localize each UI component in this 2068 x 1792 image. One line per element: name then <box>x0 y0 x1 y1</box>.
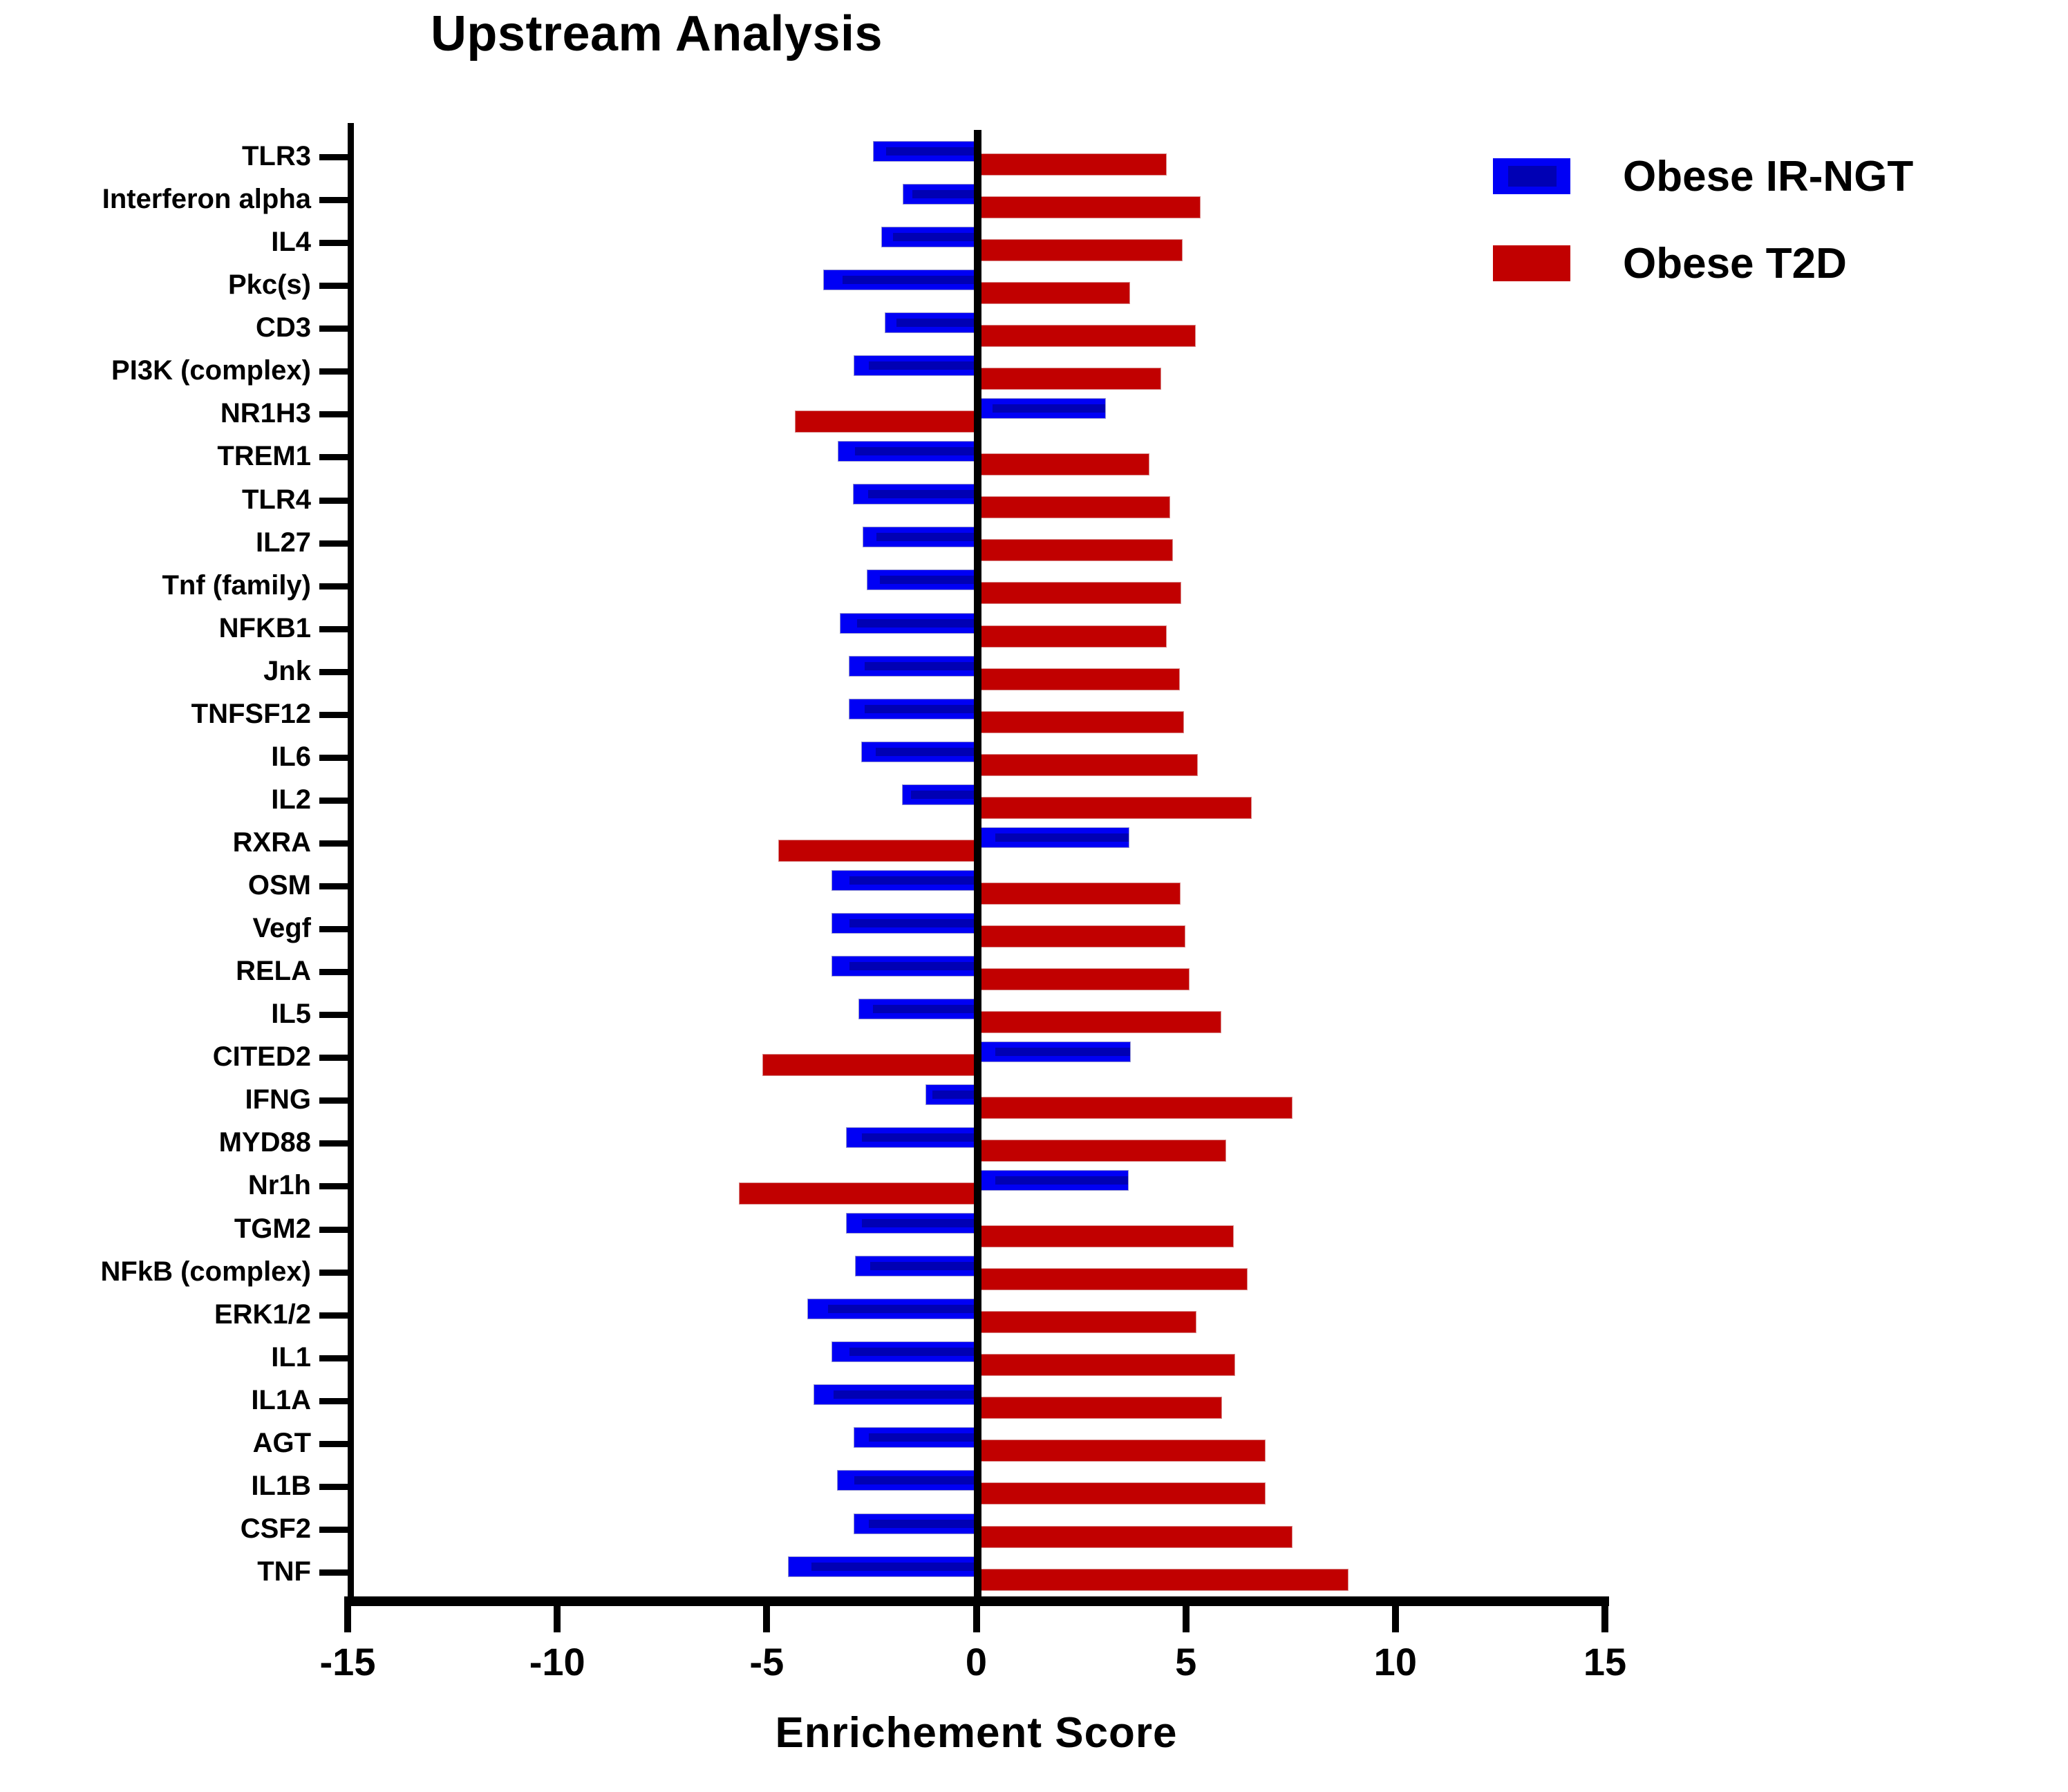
bar-obese-ir-ngt[interactable] <box>977 827 1129 848</box>
bar-obese-ir-ngt[interactable] <box>925 1084 976 1105</box>
x-axis-ticklabel: 5 <box>1117 1639 1255 1684</box>
bar-obese-ir-ngt[interactable] <box>837 1470 977 1491</box>
y-axis-spine <box>348 123 354 1602</box>
y-axis-label: TNFSF12 <box>0 700 311 728</box>
y-axis-tick <box>319 368 348 375</box>
y-axis-tick <box>319 326 348 332</box>
bar-obese-ir-ngt[interactable] <box>903 184 976 205</box>
y-axis-tick <box>319 1183 348 1189</box>
bar-obese-t2d[interactable] <box>977 539 1174 561</box>
bar-obese-ir-ngt[interactable] <box>807 1299 977 1319</box>
bar-obese-ir-ngt[interactable] <box>840 613 976 634</box>
bar-obese-t2d[interactable] <box>977 711 1184 733</box>
y-axis-tick <box>319 626 348 632</box>
bar-obese-t2d[interactable] <box>977 1397 1222 1419</box>
y-axis-tick <box>319 1441 348 1447</box>
bar-obese-ir-ngt[interactable] <box>858 999 977 1019</box>
y-axis-label: NFkB (complex) <box>0 1258 311 1285</box>
y-axis-label: NR1H3 <box>0 399 311 427</box>
y-axis-label: RELA <box>0 957 311 985</box>
y-axis-label: Vegf <box>0 914 311 942</box>
bar-obese-t2d[interactable] <box>977 153 1167 176</box>
y-axis-tick <box>319 1355 348 1361</box>
y-axis-label: Tnf (family) <box>0 572 311 599</box>
y-axis-tick <box>319 1055 348 1061</box>
y-axis-tick <box>319 283 348 289</box>
bar-obese-t2d[interactable] <box>795 411 977 433</box>
x-axis-tick <box>1392 1606 1399 1632</box>
y-axis-tick <box>319 669 348 675</box>
bar-obese-t2d[interactable] <box>762 1054 977 1076</box>
bar-obese-ir-ngt[interactable] <box>849 656 977 677</box>
y-axis-tick <box>319 1097 348 1104</box>
y-axis-tick <box>319 1140 348 1147</box>
x-axis-ticklabel: -10 <box>488 1639 626 1684</box>
bar-obese-t2d[interactable] <box>977 582 1181 604</box>
y-axis-label: NFKB1 <box>0 614 311 642</box>
y-axis-label: IL5 <box>0 1000 311 1028</box>
bar-obese-t2d[interactable] <box>977 883 1181 905</box>
bar-obese-ir-ngt[interactable] <box>977 1041 1131 1062</box>
y-axis-ticks <box>319 135 348 1594</box>
bar-obese-t2d[interactable] <box>977 1011 1221 1033</box>
y-axis-label: IL1A <box>0 1386 311 1414</box>
x-axis-tick <box>1183 1606 1190 1632</box>
y-axis-label: CD3 <box>0 314 311 341</box>
y-axis-tick <box>319 1527 348 1533</box>
bar-obese-ir-ngt[interactable] <box>855 1256 977 1276</box>
bar-obese-ir-ngt[interactable] <box>881 227 977 247</box>
bar-obese-ir-ngt[interactable] <box>838 441 976 462</box>
y-axis-tick <box>319 969 348 975</box>
bar-obese-t2d[interactable] <box>977 1440 1266 1462</box>
y-axis-label: IL6 <box>0 743 311 771</box>
y-axis-label: Interferon alpha <box>0 185 311 213</box>
bar-obese-ir-ngt[interactable] <box>831 870 976 891</box>
y-axis-tick <box>319 1270 348 1276</box>
bar-obese-ir-ngt[interactable] <box>846 1127 977 1148</box>
x-axis-ticklabels: -15-10-5051015 <box>0 1639 2068 1688</box>
bar-obese-ir-ngt[interactable] <box>854 1427 976 1448</box>
bar-obese-ir-ngt[interactable] <box>854 355 976 376</box>
bar-obese-ir-ngt[interactable] <box>814 1384 976 1405</box>
bar-obese-ir-ngt[interactable] <box>831 1341 976 1362</box>
bar-obese-t2d[interactable] <box>977 625 1167 648</box>
bar-obese-t2d[interactable] <box>977 239 1183 261</box>
bar-obese-t2d[interactable] <box>977 282 1131 304</box>
bar-obese-t2d[interactable] <box>977 196 1201 218</box>
y-axis-tick <box>319 197 348 203</box>
y-axis-label: IL1B <box>0 1472 311 1500</box>
y-axis-label: IFNG <box>0 1086 311 1113</box>
y-axis-tick <box>319 840 348 847</box>
y-axis-tick <box>319 712 348 718</box>
bar-obese-ir-ngt[interactable] <box>861 742 977 762</box>
bar-obese-t2d[interactable] <box>977 368 1161 390</box>
bar-obese-ir-ngt[interactable] <box>902 784 977 805</box>
y-axis-label: TNF <box>0 1558 311 1585</box>
bar-obese-t2d[interactable] <box>977 325 1196 347</box>
y-axis-tick <box>319 1312 348 1319</box>
x-axis-tick <box>763 1606 770 1632</box>
y-axis-label: PI3K (complex) <box>0 357 311 384</box>
zero-reference-line <box>974 130 981 1602</box>
bar-obese-ir-ngt[interactable] <box>854 1513 976 1534</box>
y-axis-tick <box>319 1398 348 1404</box>
bar-obese-ir-ngt[interactable] <box>885 312 976 333</box>
legend-label: Obese IR-NGT <box>1623 152 1913 201</box>
x-axis-ticklabel: 0 <box>908 1639 1046 1684</box>
bar-obese-ir-ngt[interactable] <box>831 913 976 934</box>
y-axis-label: IL4 <box>0 228 311 256</box>
bar-obese-t2d[interactable] <box>977 797 1252 819</box>
y-axis-tick <box>319 1012 348 1018</box>
y-axis-label: OSM <box>0 871 311 899</box>
y-axis-label: IL27 <box>0 529 311 556</box>
x-axis-ticklabel: 10 <box>1326 1639 1465 1684</box>
x-axis-title: Enrichement Score <box>348 1708 1605 1757</box>
bar-obese-ir-ngt[interactable] <box>823 270 976 290</box>
bar-obese-t2d[interactable] <box>977 1225 1234 1247</box>
bar-obese-t2d[interactable] <box>778 840 976 862</box>
bar-obese-t2d[interactable] <box>977 968 1190 990</box>
y-axis-label: ERK1/2 <box>0 1301 311 1328</box>
legend: Obese IR-NGT Obese T2D <box>1493 153 2060 328</box>
bar-obese-t2d[interactable] <box>977 496 1171 518</box>
bar-obese-t2d[interactable] <box>977 1526 1292 1548</box>
bar-obese-ir-ngt[interactable] <box>846 1213 977 1234</box>
legend-item-obese-t2d[interactable]: Obese T2D <box>1493 240 2060 286</box>
bar-obese-ir-ngt[interactable] <box>853 484 977 504</box>
x-axis-tick <box>973 1606 980 1632</box>
y-axis-label: MYD88 <box>0 1129 311 1156</box>
y-axis-tick <box>319 540 348 547</box>
y-axis-tick <box>319 583 348 590</box>
x-axis-tick <box>1601 1606 1608 1632</box>
x-axis-ticks <box>0 1606 2068 1634</box>
y-axis-label: CSF2 <box>0 1515 311 1543</box>
y-axis-label: TLR3 <box>0 142 311 170</box>
y-axis-label: RXRA <box>0 829 311 856</box>
y-axis-tick <box>319 154 348 160</box>
y-axis-label: CITED2 <box>0 1043 311 1071</box>
y-axis-label: TREM1 <box>0 442 311 470</box>
y-axis-tick <box>319 1227 348 1233</box>
bar-obese-ir-ngt[interactable] <box>977 398 1107 419</box>
bar-obese-t2d[interactable] <box>977 1482 1266 1505</box>
bar-obese-t2d[interactable] <box>977 668 1181 690</box>
x-axis-ticklabel: 15 <box>1536 1639 1674 1684</box>
bar-obese-t2d[interactable] <box>977 925 1186 947</box>
bar-obese-t2d[interactable] <box>739 1182 976 1205</box>
legend-label: Obese T2D <box>1623 239 1847 288</box>
bar-obese-t2d[interactable] <box>977 453 1149 475</box>
bar-obese-ir-ngt[interactable] <box>873 141 976 162</box>
bar-obese-t2d[interactable] <box>977 1569 1348 1591</box>
y-axis-label: IL1 <box>0 1343 311 1371</box>
bar-obese-t2d[interactable] <box>977 1140 1226 1162</box>
y-axis-label: IL2 <box>0 786 311 813</box>
y-axis-tick <box>319 798 348 804</box>
y-axis-tick <box>319 411 348 417</box>
bar-obese-ir-ngt[interactable] <box>867 569 977 590</box>
bar-obese-ir-ngt[interactable] <box>831 956 976 977</box>
x-axis-ticklabel: -15 <box>279 1639 417 1684</box>
x-axis-tick <box>554 1606 561 1632</box>
x-axis-tick <box>344 1606 351 1632</box>
bar-obese-t2d[interactable] <box>977 754 1198 776</box>
x-axis-line <box>344 1596 1609 1606</box>
y-axis-tick <box>319 1484 348 1490</box>
y-axis-labels: TLR3Interferon alphaIL4Pkc(s)CD3PI3K (co… <box>0 135 311 1594</box>
y-axis-tick <box>319 755 348 761</box>
bar-obese-ir-ngt[interactable] <box>849 699 977 719</box>
legend-swatch-icon-blue <box>1493 158 1570 194</box>
y-axis-tick <box>319 883 348 889</box>
y-axis-label: Nr1h <box>0 1171 311 1199</box>
y-axis-label: Jnk <box>0 657 311 685</box>
bar-obese-t2d[interactable] <box>977 1097 1293 1119</box>
y-axis-tick <box>319 498 348 504</box>
bar-obese-t2d[interactable] <box>977 1268 1248 1290</box>
y-axis-label: TGM2 <box>0 1215 311 1243</box>
y-axis-label: AGT <box>0 1429 311 1457</box>
bar-obese-ir-ngt[interactable] <box>977 1170 1129 1191</box>
y-axis-label: TLR4 <box>0 486 311 513</box>
y-axis-tick <box>319 1569 348 1576</box>
y-axis-tick <box>319 240 348 246</box>
legend-swatch-icon-red <box>1493 245 1570 281</box>
bar-obese-ir-ngt[interactable] <box>863 527 977 547</box>
y-axis-label: Pkc(s) <box>0 271 311 299</box>
y-axis-tick <box>319 454 348 460</box>
y-axis-tick <box>319 926 348 932</box>
x-axis-ticklabel: -5 <box>697 1639 836 1684</box>
bar-obese-t2d[interactable] <box>977 1311 1196 1333</box>
legend-item-obese-ir-ngt[interactable]: Obese IR-NGT <box>1493 153 2060 199</box>
bar-obese-ir-ngt[interactable] <box>788 1556 976 1577</box>
bar-obese-t2d[interactable] <box>977 1354 1235 1376</box>
